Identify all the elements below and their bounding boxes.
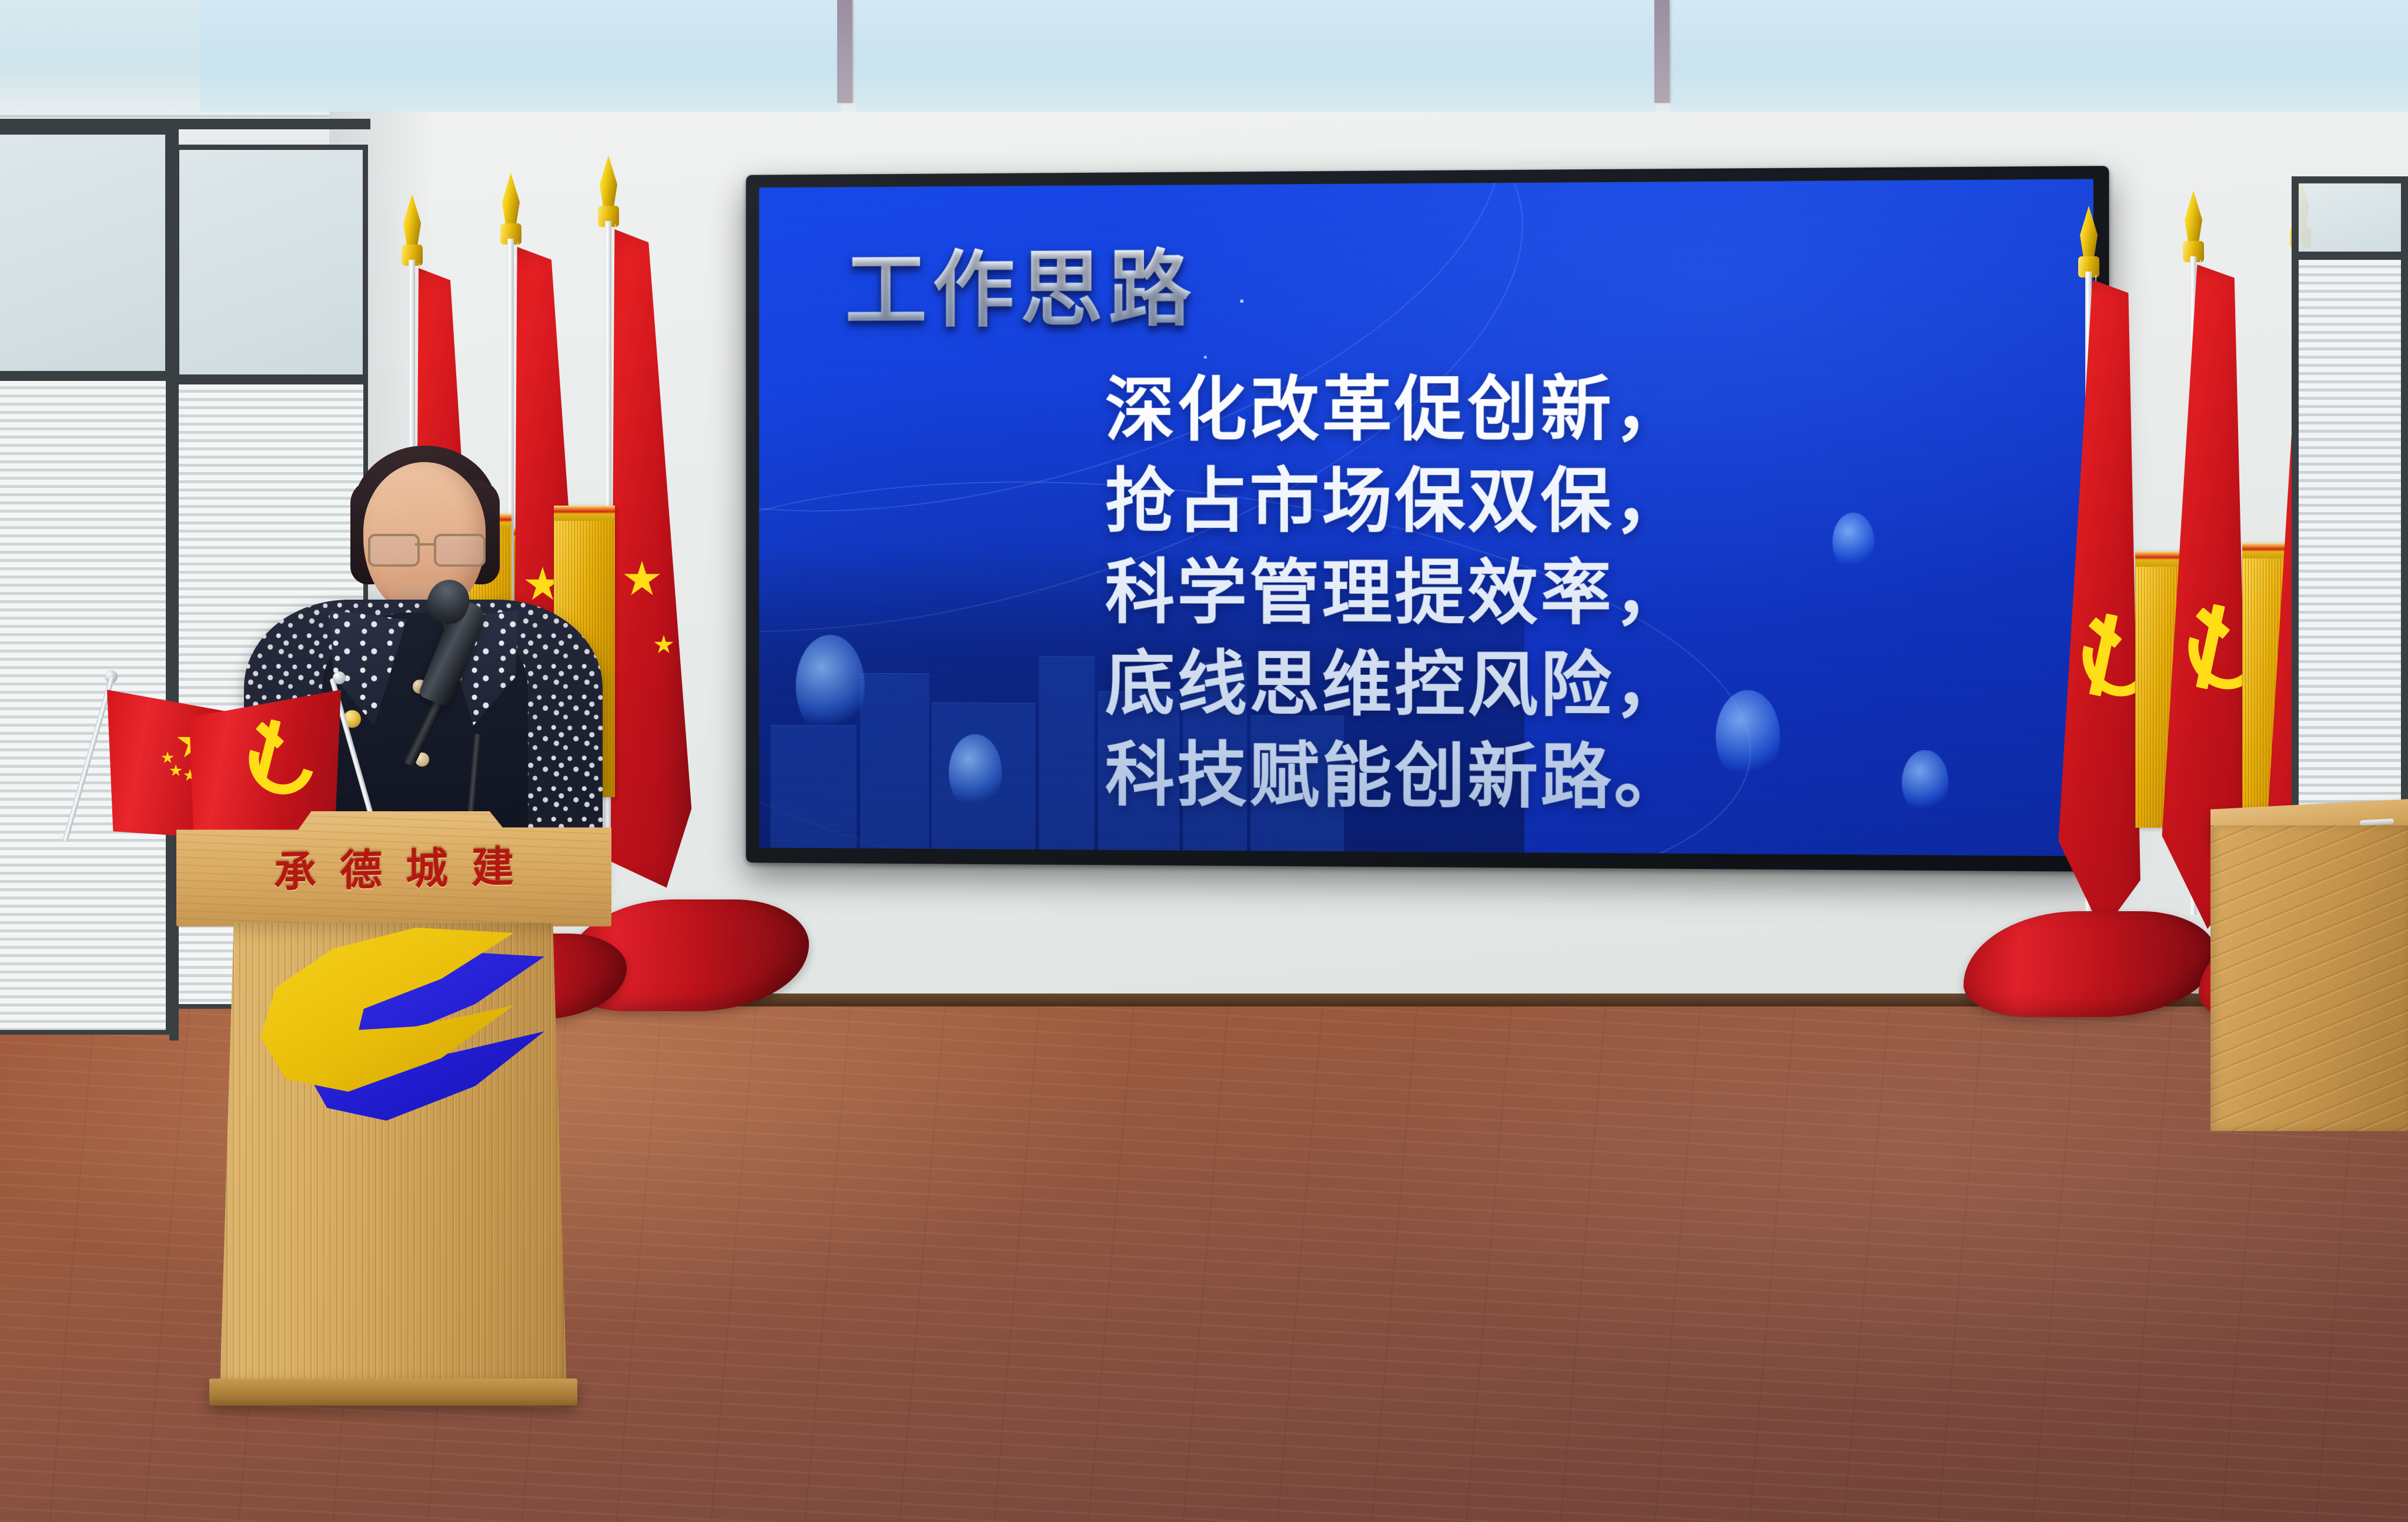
window-frame-top <box>0 119 370 129</box>
glasses-lens-right <box>434 534 486 567</box>
glass-pane-upper-left <box>0 129 170 376</box>
sparkle-dot <box>1240 299 1243 303</box>
slide-line: 深化改革促创新， <box>1105 364 1687 457</box>
flag-finial-icon <box>2185 190 2202 247</box>
right-window-transom <box>2292 176 2408 259</box>
podium-nameplate: 承德城建 <box>176 830 611 902</box>
led-display-frame: 工作思路 深化改革促创新， 抢占市场保双保， 科学管理提效率， 底线思维控风险，… <box>746 166 2109 872</box>
bokeh-light <box>796 635 865 737</box>
glasses-icon <box>367 534 483 564</box>
chengde-chengjian-swoosh-logo <box>247 917 529 1152</box>
glasses-bridge <box>415 543 435 546</box>
podium-base <box>209 1379 577 1406</box>
podium: 承德城建 <box>176 811 611 1522</box>
led-display-screen[interactable]: 工作思路 深化改革促创新， 抢占市场保双保， 科学管理提效率， 底线思维控风险，… <box>759 179 2093 857</box>
hammer-sickle-icon <box>246 718 310 787</box>
slide-line: 抢占市场保双保， <box>1105 456 1687 548</box>
ceiling-beam <box>837 0 852 103</box>
bokeh-light <box>1716 690 1780 782</box>
bokeh-light <box>1832 513 1874 571</box>
bokeh-light <box>949 734 1002 811</box>
sparkle-dot <box>1204 356 1207 359</box>
side-desk-front <box>2210 825 2408 1131</box>
slide-body-text: 深化改革促创新， 抢占市场保双保， 科学管理提效率， 底线思维控风险， 科技赋能… <box>1105 364 1687 825</box>
slide-title: 工作思路 <box>845 221 1197 343</box>
flag-finial-icon <box>2080 206 2098 262</box>
flag-finial-icon <box>403 194 421 250</box>
slide-line: 科技赋能创新路。 <box>1105 730 1687 825</box>
slide-line: 科学管理提效率， <box>1105 548 1687 640</box>
bokeh-light <box>1902 750 1948 815</box>
flag-finial-icon <box>600 155 617 212</box>
flag-finial-icon <box>502 173 520 229</box>
slide-line: 底线思维控风险， <box>1105 639 1687 732</box>
glass-pane-upper-right <box>174 145 368 380</box>
glasses-lens-left <box>368 534 420 567</box>
ceiling-beam <box>1654 0 1670 103</box>
conference-room-scene: 工作思路 深化改革促创新， 抢占市场保双保， 科学管理提效率， 底线思维控风险，… <box>0 0 2408 1522</box>
